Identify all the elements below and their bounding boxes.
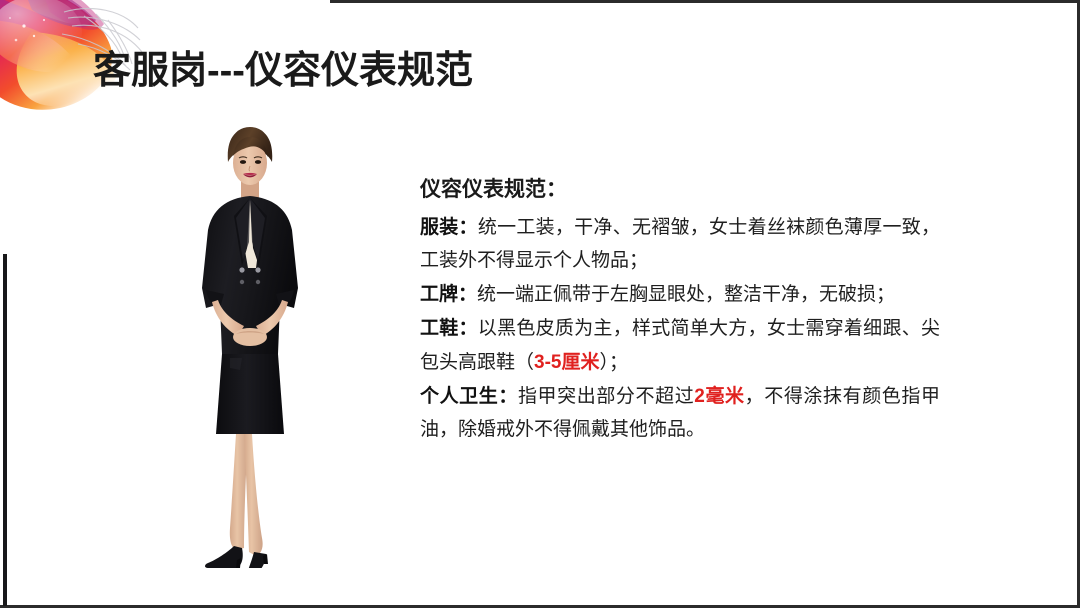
- customer-service-staff-photo: [150, 118, 350, 568]
- frame-border-left: [3, 254, 7, 606]
- regulation-item-text: ）；: [599, 352, 628, 373]
- frame-border-top: [330, 0, 1080, 3]
- regulation-item-text: 统一工装，干净、无褶皱，女士着丝袜颜色薄厚一致，工装外不得显示个人物品；: [420, 217, 940, 272]
- regulation-item-label: 服装：: [420, 217, 478, 238]
- highlighted-measurement: 2毫米: [694, 386, 744, 407]
- highlighted-measurement: 3-5厘米: [534, 352, 599, 373]
- page-title: 客服岗---仪容仪表规范: [93, 48, 473, 96]
- regulation-item-text: 以黑色皮质为主，样式简单大方，女士需穿着细跟、尖包头高跟鞋（: [420, 318, 940, 373]
- regulation-item-text: 指甲突出部分不超过: [518, 386, 694, 407]
- slide-canvas: 客服岗---仪容仪表规范: [0, 0, 1080, 608]
- regulation-item: 服装：统一工装，干净、无褶皱，女士着丝袜颜色薄厚一致，工装外不得显示个人物品；: [420, 211, 940, 279]
- regulation-item: 工鞋：以黑色皮质为主，样式简单大方，女士需穿着细跟、尖包头高跟鞋（3-5厘米）；: [420, 312, 940, 380]
- regulation-item-label: 个人卫生：: [420, 386, 518, 407]
- regulation-item: 个人卫生：指甲突出部分不超过2毫米，不得涂抹有颜色指甲油，除婚戒外不得佩戴其他饰…: [420, 380, 940, 448]
- regulation-item: 工牌：统一端正佩带于左胸显眼处，整洁干净，无破损；: [420, 278, 940, 312]
- regulation-item-text: 统一端正佩带于左胸显眼处，整洁干净，无破损；: [477, 284, 895, 305]
- regulation-item-label: 工牌：: [420, 284, 477, 305]
- regulations-heading: 仪容仪表规范：: [420, 174, 940, 207]
- regulations-text-block: 仪容仪表规范： 服装：统一工装，干净、无褶皱，女士着丝袜颜色薄厚一致，工装外不得…: [420, 174, 940, 447]
- regulations-list: 服装：统一工装，干净、无褶皱，女士着丝袜颜色薄厚一致，工装外不得显示个人物品；工…: [420, 211, 940, 448]
- regulation-item-label: 工鞋：: [420, 318, 478, 339]
